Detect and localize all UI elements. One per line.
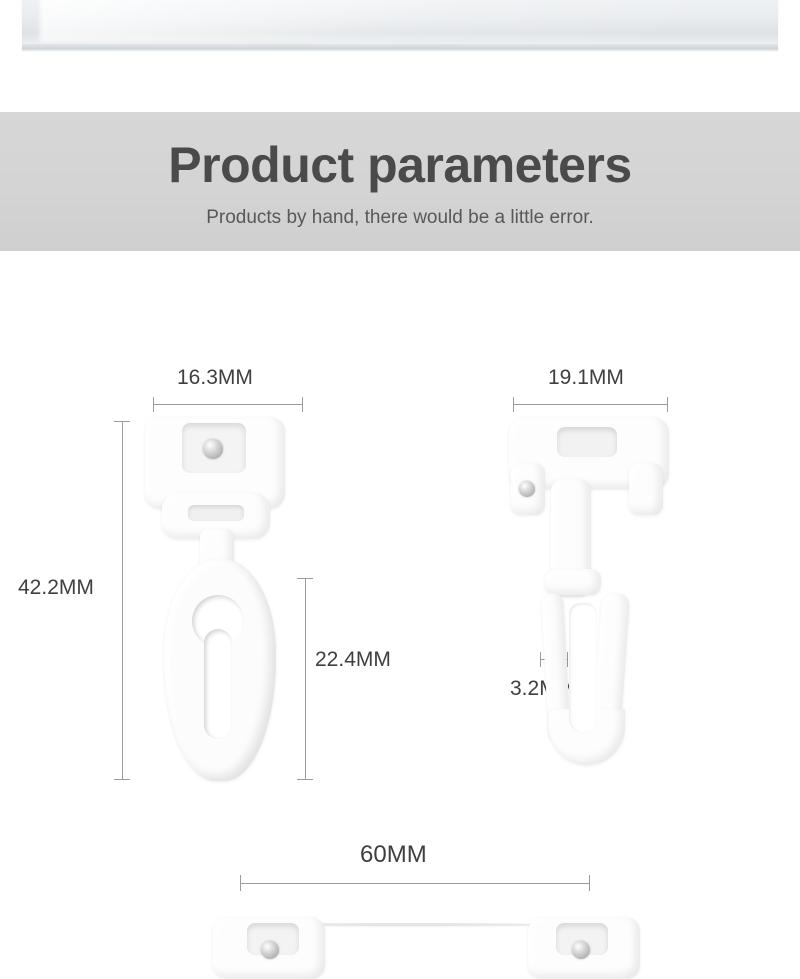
- right-hook-curve-inner-gap: [569, 603, 597, 733]
- bottom-right-roller-rivet: [572, 941, 590, 959]
- dimension-label-right-width: 19.1MM: [548, 366, 624, 390]
- photo-edge: [22, 44, 778, 52]
- dimension-tick-left-height-bottom: [114, 779, 130, 780]
- parameters-banner: Product parameters Products by hand, the…: [0, 112, 800, 251]
- dimension-tick-right-width-start: [513, 397, 514, 412]
- top-product-photo: [0, 0, 800, 96]
- dimension-tick-left-width-end: [302, 397, 303, 412]
- dimension-label-left-width: 16.3MM: [177, 366, 253, 390]
- dimension-tick-left-height-top: [114, 421, 130, 422]
- left-hook-neck-notch: [188, 505, 244, 521]
- dimension-diagram: 16.3MM 42.2MM 22.4MM 19.1MM 3.2MM: [0, 251, 800, 979]
- dimension-line-left-width: [153, 404, 303, 405]
- dimension-label-left-height: 42.2MM: [18, 576, 94, 600]
- dimension-tick-left-width-start: [153, 397, 154, 412]
- product-right-hook: [505, 417, 680, 777]
- dimension-line-right-width: [513, 404, 668, 405]
- dimension-line-pair-spacing: [240, 883, 590, 884]
- dimension-line-left-height: [122, 421, 123, 779]
- left-hook-ring-slot: [204, 629, 232, 739]
- dimension-tick-pair-start: [240, 875, 241, 891]
- page-title: Product parameters: [0, 112, 800, 193]
- product-bottom-right-roller: [520, 911, 650, 979]
- product-left-hook: [140, 417, 315, 787]
- left-hook-rivet: [203, 439, 223, 459]
- photo-highlight: [40, 0, 680, 42]
- page-subtitle: Products by hand, there would be a littl…: [0, 193, 800, 229]
- right-hook-rivet: [519, 481, 535, 497]
- dimension-label-left-hook-height: 22.4MM: [315, 648, 391, 672]
- dimension-tick-pair-end: [589, 875, 590, 891]
- dimension-label-pair-spacing: 60MM: [360, 841, 427, 869]
- right-hook-head-right-wing: [629, 463, 663, 515]
- photo-fade: [0, 52, 800, 96]
- dimension-tick-right-width-end: [667, 397, 668, 412]
- bottom-left-roller-rivet: [261, 941, 279, 959]
- right-hook-head-slot: [557, 427, 617, 457]
- product-bottom-left-roller: [205, 911, 335, 979]
